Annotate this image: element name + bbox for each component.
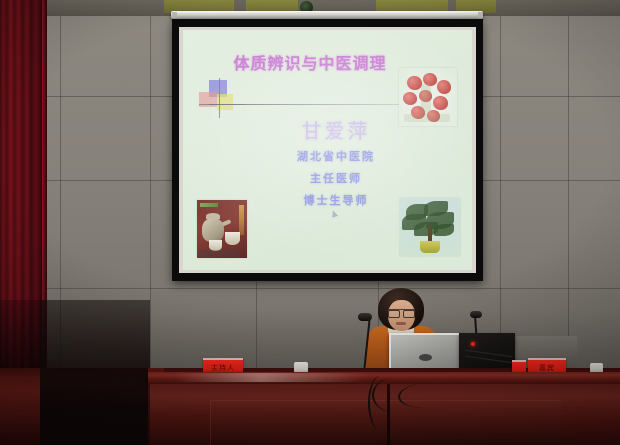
tea-image-caption	[239, 205, 244, 235]
rose-foliage	[421, 84, 431, 114]
plant-foliage	[434, 224, 454, 236]
rose-petal	[433, 96, 448, 110]
projection-screen: 体质辨识与中医调理 甘爱萍 湖北省中医院 主任医师 博士生导师	[172, 19, 483, 281]
wall-seam	[256, 282, 257, 376]
red-roses-bouquet-image	[399, 68, 457, 126]
teacup	[225, 232, 240, 245]
colored-squares-motif	[199, 78, 245, 118]
podium-highlight	[175, 373, 365, 382]
wall-seam	[0, 288, 620, 289]
presentation-slide: 体质辨识与中医调理 甘爱萍 湖北省中医院 主任医师 博士生导师	[183, 30, 472, 270]
device-cable	[465, 356, 513, 364]
left-shadow-area	[40, 300, 150, 445]
power-led-indicator	[471, 342, 475, 346]
tea-image-footer	[199, 250, 239, 257]
rose-petal	[403, 92, 417, 105]
deco-vertical-line	[219, 78, 220, 118]
lecture-hall-photo: 体质辨识与中医调理 甘爱萍 湖北省中医院 主任医师 博士生导师	[0, 0, 620, 445]
glasses-lens	[388, 310, 400, 318]
slide-affiliation-line-3: 博士生导师	[263, 192, 409, 208]
roller-cap	[478, 12, 483, 18]
mouse-cursor-icon	[330, 209, 338, 218]
plant-pot	[420, 241, 440, 253]
laptop-logo-icon	[419, 354, 432, 361]
microphone-icon	[358, 313, 372, 321]
wall-seam	[500, 16, 501, 368]
wall-seam	[568, 16, 569, 368]
presenter-mouth	[396, 322, 406, 325]
teapot-and-teacups-image	[197, 200, 247, 258]
rose-foliage	[404, 114, 450, 122]
rose-petal	[407, 76, 422, 90]
microphone-icon	[470, 311, 482, 318]
slide-affiliation-line-2: 主任医师	[263, 170, 409, 186]
glasses-lens	[403, 310, 415, 318]
teapot-body	[202, 218, 224, 242]
roller-cap	[172, 12, 177, 18]
slide-affiliation-line-1: 湖北省中医院	[263, 148, 409, 164]
rose-petal	[437, 80, 451, 94]
wall-seam	[150, 16, 151, 376]
glasses-icon	[388, 309, 415, 316]
potted-plant-image	[400, 198, 460, 256]
projector-screen-roller	[171, 11, 483, 19]
slide-title: 体质辨识与中医调理	[215, 50, 405, 74]
tea-image-label	[200, 203, 218, 207]
slide-presenter-name: 甘爱萍	[271, 115, 401, 144]
